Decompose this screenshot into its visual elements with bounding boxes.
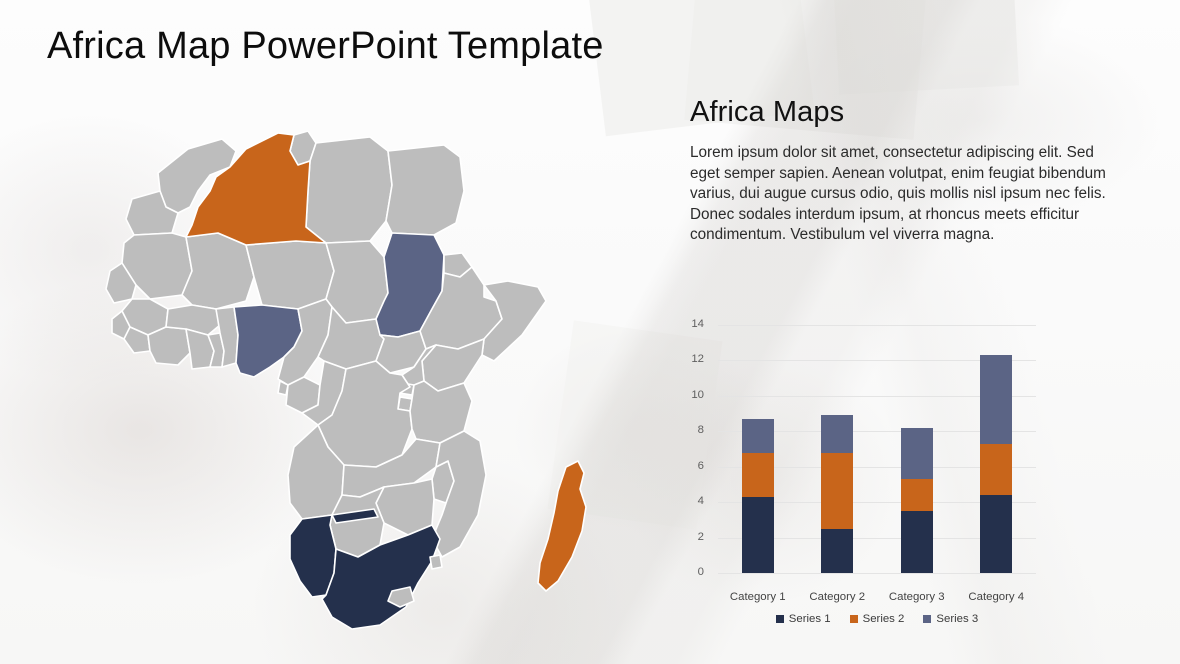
chart-bar-segment-series-1[interactable] (821, 529, 853, 573)
chart-plot-area: 02468101214Category 1Category 2Category … (718, 325, 1036, 573)
chart-gridline (718, 573, 1036, 574)
legend-item-series-3[interactable]: Series 3 (923, 613, 978, 625)
legend-item-series-1[interactable]: Series 1 (776, 613, 831, 625)
country-egypt[interactable] (386, 145, 464, 235)
chart-y-axis-label: 4 (680, 495, 704, 507)
legend-swatch-icon (776, 615, 784, 623)
chart-bar-segment-series-3[interactable] (980, 355, 1012, 444)
stacked-bar-chart[interactable]: 02468101214Category 1Category 2Category … (690, 315, 1060, 645)
chart-bar-segment-series-2[interactable] (821, 453, 853, 529)
chart-bar-segment-series-2[interactable] (742, 453, 774, 497)
chart-bar-segment-series-3[interactable] (742, 419, 774, 453)
legend-label: Series 1 (789, 613, 831, 625)
background-paper-shape (833, 0, 1019, 95)
chart-bar[interactable] (821, 325, 853, 573)
country-madagascar[interactable] (538, 461, 586, 591)
legend-swatch-icon (923, 615, 931, 623)
legend-label: Series 2 (863, 613, 905, 625)
country-ivory-coast[interactable] (148, 327, 190, 365)
chart-y-axis-label: 8 (680, 424, 704, 436)
chart-y-axis-label: 2 (680, 531, 704, 543)
country-zimbabwe[interactable] (376, 479, 434, 535)
chart-y-axis-label: 0 (680, 566, 704, 578)
chart-bar-segment-series-1[interactable] (980, 495, 1012, 573)
chart-bar-segment-series-2[interactable] (901, 479, 933, 511)
legend-swatch-icon (850, 615, 858, 623)
content-body-text: Lorem ipsum dolor sit amet, consectetur … (690, 143, 1110, 246)
chart-y-axis-label: 6 (680, 460, 704, 472)
africa-map[interactable] (40, 95, 660, 640)
chart-bar[interactable] (980, 325, 1012, 573)
chart-legend: Series 1Series 2Series 3 (718, 613, 1036, 625)
legend-label: Series 3 (936, 613, 978, 625)
content-panel: Africa Maps Lorem ipsum dolor sit amet, … (690, 96, 1150, 246)
country-libya[interactable] (306, 137, 392, 243)
chart-bar-segment-series-2[interactable] (980, 444, 1012, 495)
legend-item-series-2[interactable]: Series 2 (850, 613, 905, 625)
country-eswatini[interactable] (430, 555, 442, 569)
chart-y-axis-label: 12 (680, 353, 704, 365)
chart-bar-segment-series-3[interactable] (901, 428, 933, 479)
chart-bar[interactable] (742, 325, 774, 573)
page-title: Africa Map PowerPoint Template (47, 25, 604, 68)
chart-bar-segment-series-1[interactable] (901, 511, 933, 573)
chart-x-axis-label: Category 2 (797, 591, 877, 603)
chart-bar-segment-series-3[interactable] (821, 415, 853, 452)
africa-map-svg (40, 95, 660, 640)
chart-x-axis-label: Category 3 (877, 591, 957, 603)
chart-bar-segment-series-1[interactable] (742, 497, 774, 573)
country-niger[interactable] (246, 241, 334, 309)
chart-x-axis-label: Category 1 (718, 591, 798, 603)
chart-x-axis-label: Category 4 (956, 591, 1036, 603)
chart-bar[interactable] (901, 325, 933, 573)
chart-y-axis-label: 14 (680, 318, 704, 330)
content-heading: Africa Maps (690, 96, 1150, 129)
chart-y-axis-label: 10 (680, 389, 704, 401)
